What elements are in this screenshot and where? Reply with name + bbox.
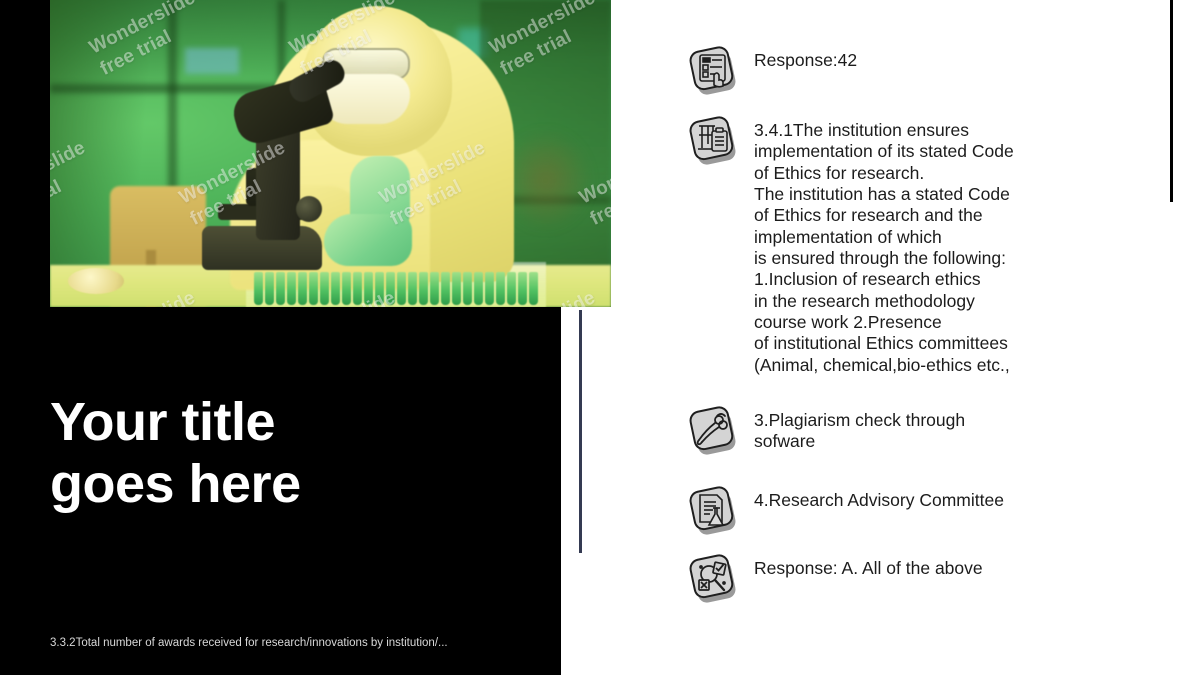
- test-tube: [386, 272, 395, 305]
- vertical-divider-left: [579, 310, 582, 553]
- test-tube: [287, 272, 296, 305]
- list-item[interactable]: Response: A. All of the above: [686, 552, 983, 606]
- test-tube: [529, 272, 538, 305]
- photo-blur-object: [502, 120, 611, 240]
- test-tube: [463, 272, 472, 305]
- test-tube: [298, 272, 307, 305]
- test-tube: [353, 272, 362, 305]
- test-tube: [485, 272, 494, 305]
- magnifier-checkbox-icon: [686, 552, 740, 606]
- test-tube: [419, 272, 428, 305]
- test-tube: [276, 272, 285, 305]
- slide-caption: 3.3.2Total number of awards received for…: [50, 636, 530, 652]
- test-tube: [320, 272, 329, 305]
- hero-photo: Wonderslide free trialWonderslide free t…: [50, 0, 611, 307]
- test-tube: [496, 272, 505, 305]
- microscope-focus-knob: [296, 196, 322, 222]
- page-title: Your title goes here: [50, 392, 520, 515]
- test-tube: [265, 272, 274, 305]
- content-list: Response:42 3.4.1The institution ensures…: [686, 0, 1166, 675]
- pliers-tool-icon: [686, 404, 740, 458]
- list-item-text: 3.Plagiarism check through sofware: [754, 404, 965, 453]
- vertical-divider-right: [1170, 0, 1173, 202]
- list-item[interactable]: 3.Plagiarism check through sofware: [686, 404, 965, 458]
- test-tube: [375, 272, 384, 305]
- test-tube: [474, 272, 483, 305]
- slide-canvas: Wonderslide free trialWonderslide free t…: [0, 0, 1200, 675]
- petri-dish: [68, 268, 124, 294]
- photo-artwork: Wonderslide free trialWonderslide free t…: [50, 0, 611, 307]
- test-tube: [408, 272, 417, 305]
- document-flask-icon: [686, 484, 740, 538]
- list-item-text: Response:42: [754, 44, 857, 71]
- window-pane: [185, 48, 239, 74]
- test-tube: [452, 272, 461, 305]
- test-tube: [518, 272, 527, 305]
- test-tube: [342, 272, 351, 305]
- test-tube: [507, 272, 516, 305]
- test-tube: [331, 272, 340, 305]
- test-tube: [430, 272, 439, 305]
- list-item-text: 3.4.1The institution ensures implementat…: [754, 114, 1014, 376]
- institution-clipboard-icon: [686, 114, 740, 168]
- list-item[interactable]: 4.Research Advisory Committee: [686, 484, 1004, 538]
- survey-checklist-icon: [686, 44, 740, 98]
- test-tube: [441, 272, 450, 305]
- list-item[interactable]: 3.4.1The institution ensures implementat…: [686, 114, 1014, 376]
- test-tube: [397, 272, 406, 305]
- test-tube: [254, 272, 263, 305]
- gloved-hand: [324, 214, 412, 266]
- test-tube: [364, 272, 373, 305]
- list-item-text: Response: A. All of the above: [754, 552, 983, 579]
- test-tube: [309, 272, 318, 305]
- list-item-text: 4.Research Advisory Committee: [754, 484, 1004, 511]
- list-item[interactable]: Response:42: [686, 44, 857, 98]
